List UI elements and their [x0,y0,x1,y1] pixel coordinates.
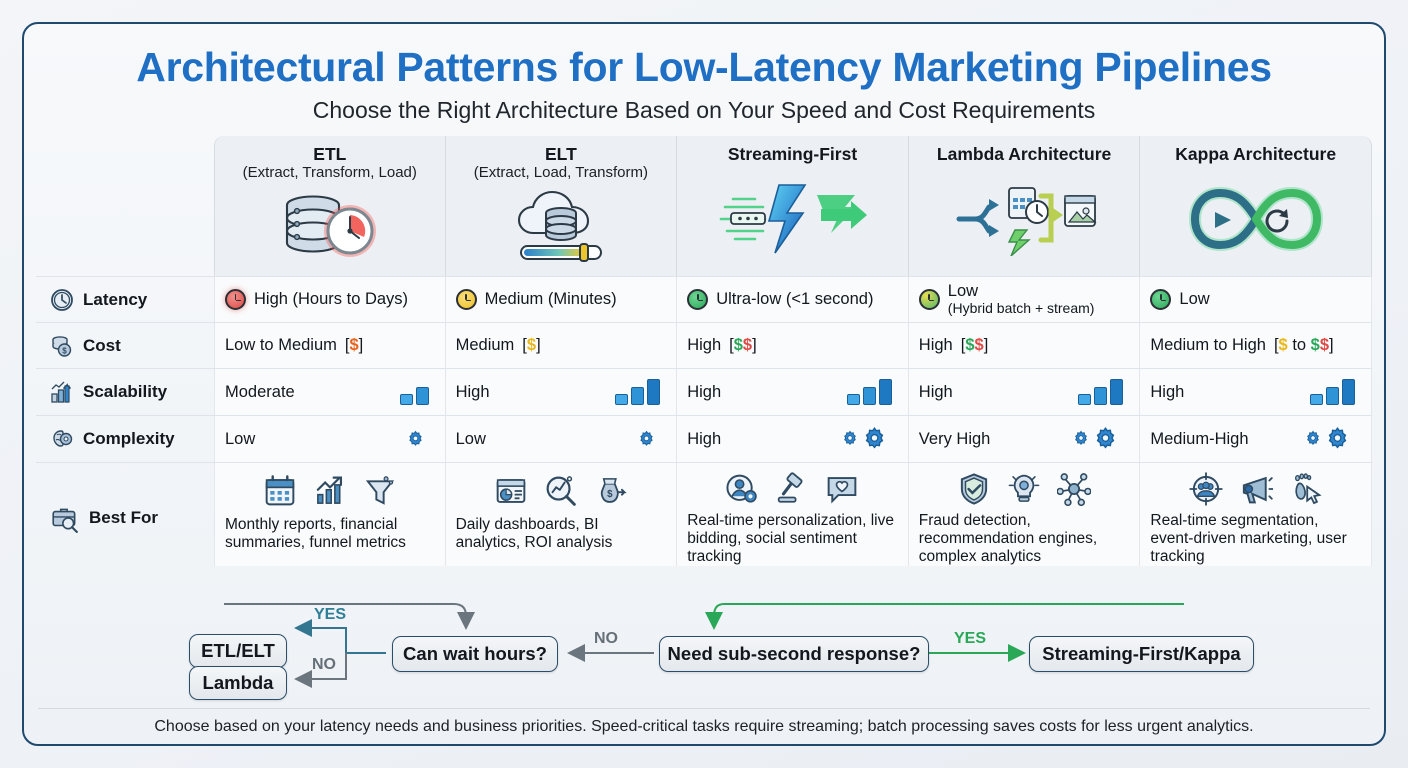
flow-label-yes-etl: YES [314,606,346,624]
cell-scalability-elt: High [446,368,678,415]
cloud-database-icon [505,185,617,270]
complexity-gears [406,430,425,449]
flow-box-streaming-first-kappa[interactable]: Streaming-First/Kappa [1029,636,1254,672]
gear-icon-large [1092,426,1119,453]
decision-flow-diagram: ETL/ELT Lambda Can wait hours? Need sub-… [24,602,1384,714]
funnel-icon [363,474,397,508]
cell-cost-streaming-first: High [$$] [677,322,909,368]
scalability-bars [400,379,429,405]
flow-label-no-lambda: NO [312,656,336,674]
infographic-canvas: Architectural Patterns for Low-Latency M… [0,0,1408,768]
cell-best-for-streaming-first: Real-time personalization, live bidding,… [677,462,909,566]
cell-text: High (Hours to Days) [254,290,408,309]
column-subtitle: (Extract, Transform, Load) [243,164,417,181]
best-for-text: Real-time segmentation, event-driven mar… [1150,512,1361,566]
cell-text: High [456,383,490,402]
cell-text: Low [1179,290,1209,309]
cell-scalability-kappa: High [1140,368,1372,415]
dashboard-icon [494,474,528,508]
heart-chat-icon [825,472,859,506]
row-label-cost: $ Cost [36,322,214,368]
column-header-etl: ETL (Extract, Transform, Load) [214,136,446,276]
row-label-text: Latency [83,290,147,310]
cell-text: High [1150,383,1184,402]
comparison-table: ETL (Extract, Transform, Load) [36,136,1372,566]
best-for-text: Monthly reports, financial summaries, fu… [225,516,435,552]
cell-latency-elt: Medium (Minutes) [446,276,678,322]
cell-cost-elt: Medium [$] [446,322,678,368]
gear-icon-large [1324,426,1351,453]
page-title: Architectural Patterns for Low-Latency M… [24,44,1384,91]
gear-icon-small [1072,430,1090,448]
cell-latency-lambda: Low (Hybrid batch + stream) [909,276,1141,322]
footprint-cursor-icon [1289,472,1323,506]
row-label-text: Best For [89,508,158,528]
row-label-complexity: Complexity [36,415,214,462]
calendar-icon [263,474,297,508]
cell-scalability-lambda: High [909,368,1141,415]
cell-complexity-lambda: Very High [909,415,1141,462]
flow-box-can-wait-hours[interactable]: Can wait hours? [392,636,558,672]
best-for-icons [225,469,435,513]
complexity-gears [637,430,656,449]
row-label-latency: Latency [36,276,214,322]
cell-text: Low [456,430,486,449]
flow-box-lambda[interactable]: Lambda [189,666,287,700]
cell-best-for-kappa: Real-time segmentation, event-driven mar… [1140,462,1372,566]
cell-best-for-lambda: Fraud detection, recommendation engines,… [909,462,1141,566]
megaphone-icon [1239,472,1273,506]
cell-text: High [687,383,721,402]
cell-text: High [687,430,721,449]
gear-icon-large [861,426,888,453]
database-clock-icon [271,185,389,270]
money-bag-arrow-icon: $ [594,474,628,508]
cell-latency-streaming-first: Ultra-low (<1 second) [677,276,909,322]
cell-text: Moderate [225,383,295,402]
best-for-icons [919,469,1130,509]
best-for-text: Real-time personalization, live bidding,… [687,512,898,566]
brain-gear-icon [50,427,74,451]
row-label-text: Complexity [83,429,175,449]
flow-label-yes-streaming: YES [954,630,986,648]
best-for-icons [687,469,898,509]
cell-text: Ultra-low (<1 second) [716,290,873,309]
row-label-text: Scalability [83,382,167,402]
cell-complexity-streaming-first: High [677,415,909,462]
cost-symbols: [$ to $$] [1274,336,1334,355]
cell-cost-etl: Low to Medium [$] [214,322,446,368]
cell-scalability-streaming-first: High [677,368,909,415]
cell-text: Very High [919,430,991,449]
user-gear-icon [725,472,759,506]
scalability-bars [1078,379,1123,405]
column-header-kappa: Kappa Architecture [1140,136,1372,276]
cell-cost-lambda: High [$$] [909,322,1141,368]
column-title: ETL [313,144,346,164]
cell-best-for-elt: $ Daily dashboards, BI analytics, ROI an… [446,462,678,566]
cost-symbols: [$$] [961,336,989,355]
latency-indicator-red [225,289,246,310]
footer-note: Choose based on your latency needs and b… [38,708,1370,736]
gear-icon [637,430,656,449]
growth-chart-icon [313,474,347,508]
cell-latency-kappa: Low [1140,276,1372,322]
page-subtitle: Choose the Right Architecture Based on Y… [24,97,1384,124]
latency-indicator-green [1150,289,1171,310]
best-for-icons: $ [456,469,667,513]
cell-best-for-etl: Monthly reports, financial summaries, fu… [214,462,446,566]
flow-label-no-canwait: NO [594,630,618,648]
cell-latency-etl: High (Hours to Days) [214,276,446,322]
scalability-bars [615,379,660,405]
best-for-text: Fraud detection, recommendation engines,… [919,512,1130,566]
latency-indicator-yellow [456,289,477,310]
column-header-lambda: Lambda Architecture [909,136,1141,276]
complexity-gears [1072,426,1119,453]
flow-box-need-sub-second[interactable]: Need sub-second response? [659,636,929,672]
infographic-frame: Architectural Patterns for Low-Latency M… [22,22,1386,746]
lambda-branch-icon [949,168,1099,270]
cell-complexity-etl: Low [214,415,446,462]
cell-subtext: (Hybrid batch + stream) [948,301,1095,317]
analytics-magnifier-icon [544,474,578,508]
cell-text: Low [948,282,1095,300]
gear-icon-small [841,430,859,448]
gear-icon [406,430,425,449]
cell-cost-kappa: Medium to High [$ to $$] [1140,322,1372,368]
gear-icon-small [1304,430,1322,448]
cost-symbols: [$] [345,336,363,355]
complexity-gears [1304,426,1351,453]
table-corner-spacer [36,136,214,276]
complexity-gears [841,426,888,453]
lightbulb-ai-icon [1007,472,1041,506]
row-label-best-for: Best For [36,462,214,566]
audience-target-icon [1189,472,1223,506]
cell-complexity-kappa: Medium-High [1140,415,1372,462]
cell-text: Medium [456,336,515,355]
shield-check-icon [957,472,991,506]
scalability-bars [1310,379,1355,405]
infinity-loop-icon [1181,168,1331,270]
svg-text:$: $ [607,489,613,500]
flow-box-etl-elt[interactable]: ETL/ELT [189,634,287,668]
column-header-elt: ELT (Extract, Load, Transform) [446,136,678,276]
cell-text: Low [225,430,255,449]
best-for-icons [1150,469,1361,509]
network-nodes-icon [1057,472,1091,506]
latency-indicator-green [687,289,708,310]
coins-dollar-icon: $ [50,334,74,358]
cell-text: Medium-High [1150,430,1248,449]
cost-symbols: [$] [522,336,540,355]
gavel-icon [775,472,809,506]
column-title: Kappa Architecture [1175,144,1336,164]
cell-text: High [687,336,721,355]
column-title: ELT [545,144,577,164]
column-title: Lambda Architecture [937,144,1111,164]
svg-text:$: $ [62,346,67,355]
column-subtitle: (Extract, Load, Transform) [474,164,648,181]
clock-icon [50,288,74,312]
cell-scalability-etl: Moderate [214,368,446,415]
cell-text: Low to Medium [225,336,337,355]
bar-chart-arrow-icon [50,380,74,404]
lightning-stream-icon [717,168,867,270]
column-header-streaming-first: Streaming-First [677,136,909,276]
cell-text: High [919,383,953,402]
cell-text: Medium (Minutes) [485,290,617,309]
scalability-bars [847,379,892,405]
latency-indicator-yellow-green [919,289,940,310]
row-label-text: Cost [83,336,121,356]
column-title: Streaming-First [728,144,857,164]
cost-symbols: [$$] [729,336,757,355]
row-label-scalability: Scalability [36,368,214,415]
briefcase-search-icon [50,503,80,533]
cell-text: High [919,336,953,355]
cell-text: Medium to High [1150,336,1266,355]
best-for-text: Daily dashboards, BI analytics, ROI anal… [456,516,667,552]
cell-complexity-elt: Low [446,415,678,462]
